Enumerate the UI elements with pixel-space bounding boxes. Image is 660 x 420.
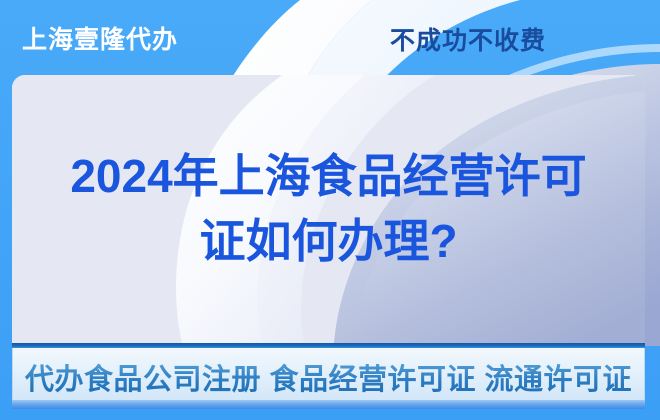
keyword-bar: 代办食品公司注册 食品经营许可证 流通许可证 bbox=[12, 348, 645, 405]
footer-shine-strip bbox=[12, 400, 645, 409]
content-card bbox=[12, 75, 645, 343]
keyword-text: 代办食品公司注册 食品经营许可证 流通许可证 bbox=[25, 356, 632, 398]
poster-canvas: 上海壹隆代办 不成功不收费 bbox=[0, 0, 660, 420]
card-decoration bbox=[12, 75, 645, 343]
